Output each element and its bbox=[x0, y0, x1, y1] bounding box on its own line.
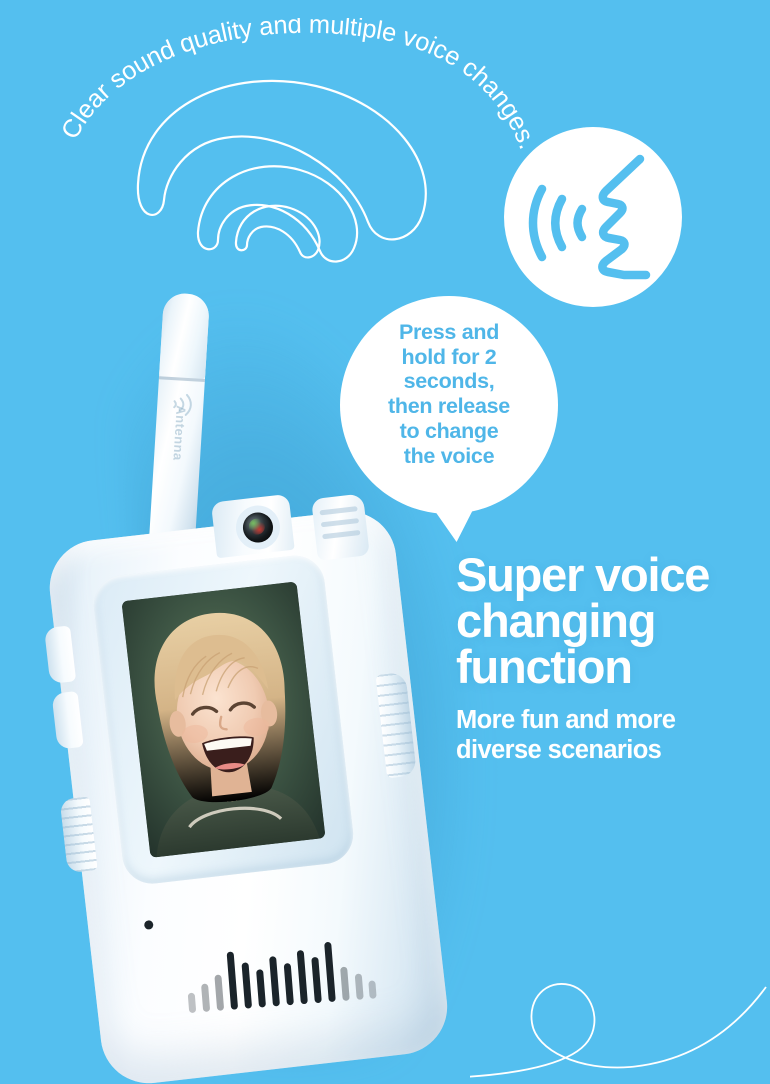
bubble-line: seconds, bbox=[340, 369, 558, 394]
speaking-face-soundwave-icon bbox=[528, 149, 658, 285]
signal-waves-icon bbox=[120, 72, 450, 287]
headline-line: function bbox=[456, 644, 770, 690]
screen-photo-child bbox=[121, 582, 325, 858]
product-feature-poster: Clear sound quality and multiple voice c… bbox=[0, 0, 770, 1084]
bubble-line: the voice bbox=[340, 444, 558, 469]
antenna-cap bbox=[159, 292, 210, 379]
ptt-ridge bbox=[321, 518, 359, 527]
headline-line: changing bbox=[456, 598, 770, 644]
antenna[interactable]: Antenna bbox=[149, 292, 210, 542]
bubble-line: hold for 2 bbox=[340, 345, 558, 370]
device-screen[interactable] bbox=[121, 582, 325, 858]
decorative-swoosh-line bbox=[470, 955, 770, 1084]
bubble-line: Press and bbox=[340, 320, 558, 345]
ptt-ridge bbox=[322, 530, 360, 539]
subheadline-line: More fun and more bbox=[456, 706, 770, 736]
voice-feature-badge bbox=[504, 127, 682, 307]
subheadline: More fun and more diverse scenarios bbox=[456, 706, 770, 766]
speaker-grille bbox=[183, 925, 376, 1014]
bubble-text: Press and hold for 2 seconds, then relea… bbox=[340, 320, 558, 468]
bubble-line: then release bbox=[340, 394, 558, 419]
headline: Super voice changing function bbox=[456, 552, 770, 690]
marketing-copy: Super voice changing function More fun a… bbox=[456, 552, 770, 766]
bubble-line: to change bbox=[340, 419, 558, 444]
instruction-callout-bubble: Press and hold for 2 seconds, then relea… bbox=[340, 296, 558, 514]
subheadline-line: diverse scenarios bbox=[456, 736, 770, 766]
headline-line: Super voice bbox=[456, 552, 770, 598]
